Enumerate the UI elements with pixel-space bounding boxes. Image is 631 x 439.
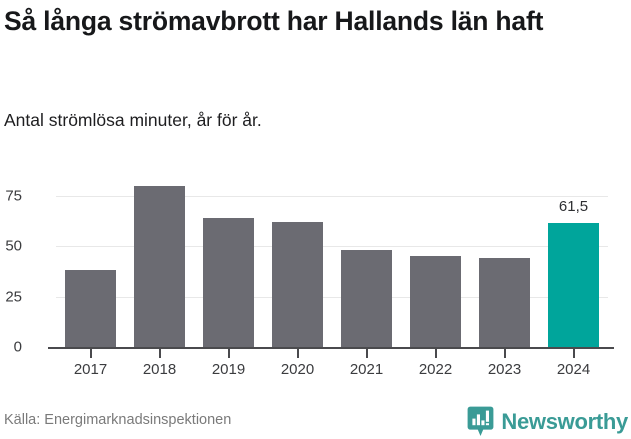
x-axis-tick-label-2019: 2019	[212, 361, 245, 378]
bar-2021[interactable]	[341, 250, 392, 347]
newsworthy-bars-logo-icon	[467, 406, 494, 437]
bar-2022[interactable]	[410, 256, 461, 347]
chart-inner: 0255075 61,5 201720182019202020212022202…	[56, 178, 608, 347]
bar-value-label: 61,5	[559, 198, 588, 215]
x-axis-tick-label-2018: 2018	[143, 361, 176, 378]
bar-group: 61,5	[56, 178, 608, 347]
brand-wordmark: Newsworthy	[501, 411, 628, 433]
x-axis-tick-label-2022: 2022	[419, 361, 452, 378]
x-axis-tick-label-2020: 2020	[281, 361, 314, 378]
x-axis-tick	[504, 349, 506, 358]
chart-subtitle: Antal strömlösa minuter, år för år.	[4, 110, 262, 132]
y-axis-tick-label: 0	[0, 339, 22, 356]
bar-column[interactable]	[134, 178, 185, 347]
x-axis-tick	[366, 349, 368, 358]
bar-column[interactable]	[203, 178, 254, 347]
bar-column[interactable]	[65, 178, 116, 347]
x-axis-tick	[228, 349, 230, 358]
x-axis-line	[48, 347, 614, 349]
x-axis-tick-label-2021: 2021	[350, 361, 383, 378]
x-axis-tick-label-2024: 2024	[557, 361, 590, 378]
bar-2024[interactable]	[548, 223, 599, 347]
bar-column[interactable]: 61,5	[548, 178, 599, 347]
chart-header: Så långa strömavbrott har Hallands län h…	[4, 6, 616, 38]
chart-footer: Källa: Energimarknadsinspektionen Newswo…	[0, 406, 631, 439]
bar-2023[interactable]	[479, 258, 530, 347]
bar-column[interactable]	[410, 178, 461, 347]
page-title: Så långa strömavbrott har Hallands län h…	[4, 6, 616, 38]
newsworthy-logo[interactable]: Newsworthy	[467, 406, 628, 437]
bar-2020[interactable]	[272, 222, 323, 347]
x-axis-tick	[435, 349, 437, 358]
x-axis-tick	[159, 349, 161, 358]
y-axis-tick-label: 50	[0, 238, 22, 255]
x-axis-tick-label-2017: 2017	[74, 361, 107, 378]
bar-column[interactable]	[341, 178, 392, 347]
x-axis-tick	[297, 349, 299, 358]
chart-plot-area: 0255075 61,5 201720182019202020212022202…	[0, 168, 631, 386]
bar-column[interactable]	[272, 178, 323, 347]
source-note: Källa: Energimarknadsinspektionen	[4, 412, 231, 428]
bar-2018[interactable]	[134, 186, 185, 347]
x-axis-tick	[90, 349, 92, 358]
bar-2019[interactable]	[203, 218, 254, 347]
y-axis-tick-label: 75	[0, 188, 22, 205]
chart-page: Så långa strömavbrott har Hallands län h…	[0, 0, 631, 439]
x-axis-tick-label-2023: 2023	[488, 361, 521, 378]
bar-column[interactable]	[479, 178, 530, 347]
bar-2017[interactable]	[65, 270, 116, 347]
x-axis-tick	[573, 349, 575, 358]
y-axis-tick-label: 25	[0, 288, 22, 305]
